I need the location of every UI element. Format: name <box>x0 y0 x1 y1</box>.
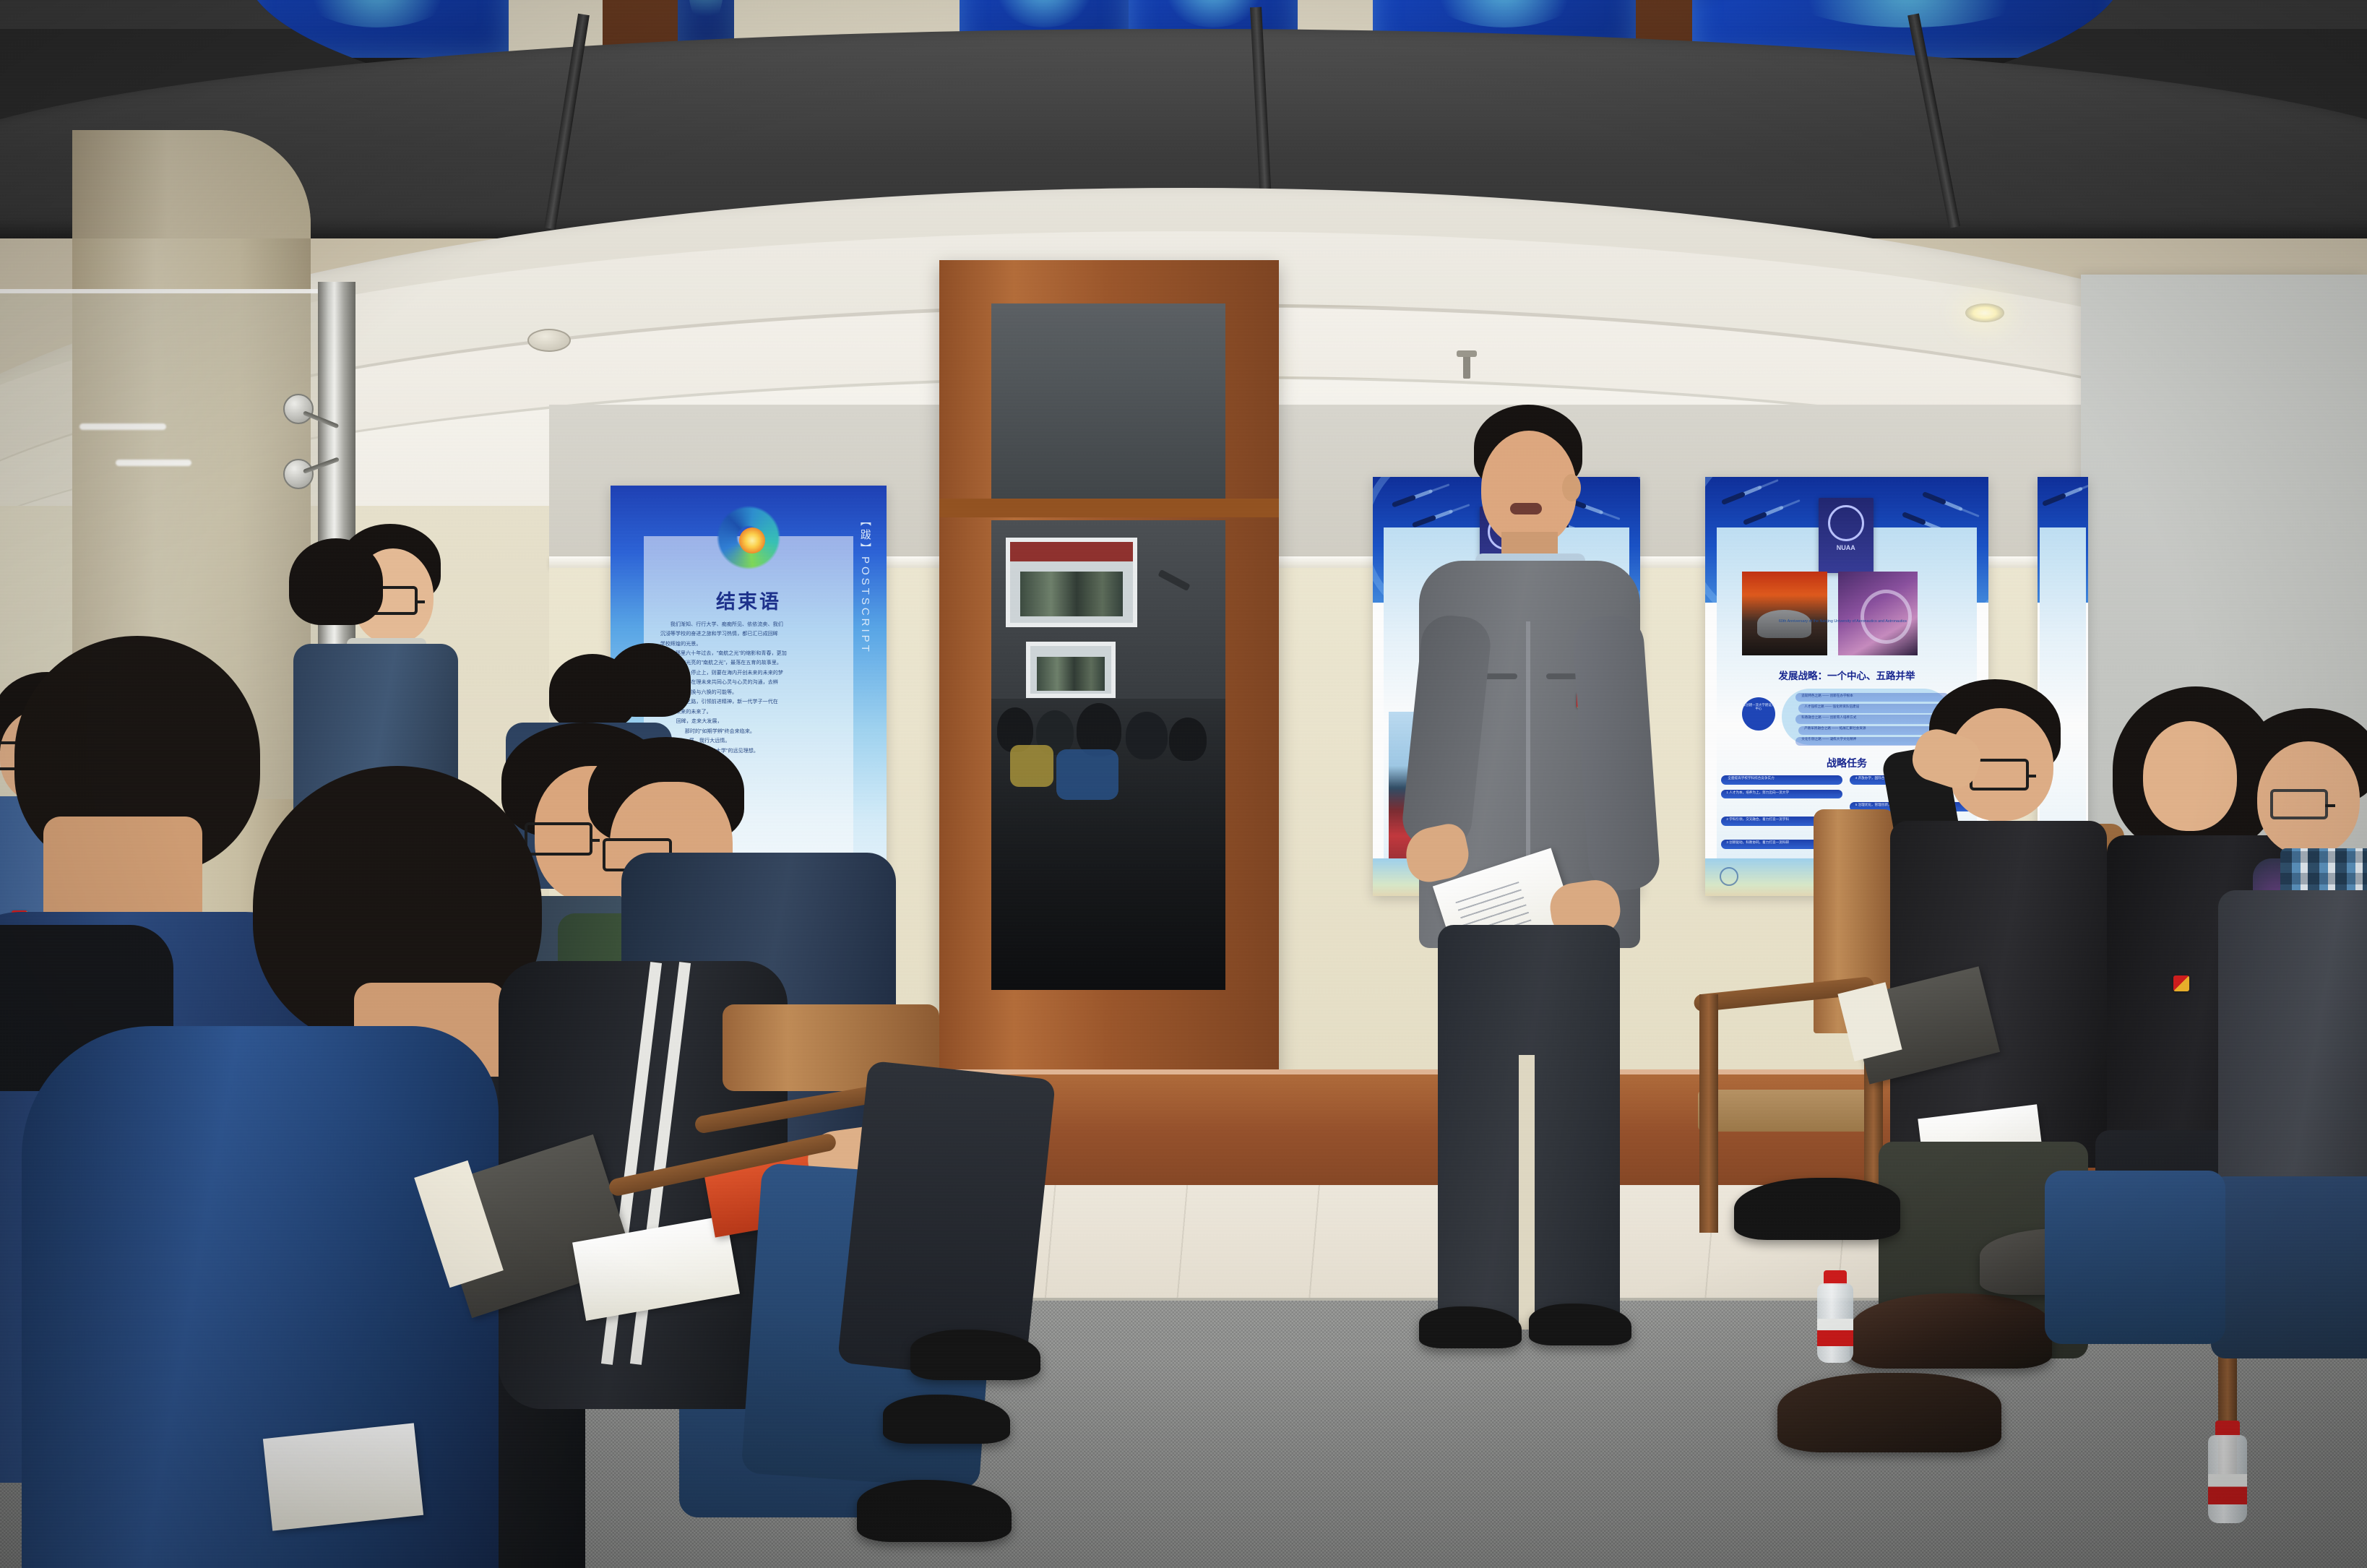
poster-side-label: 【跋】POSTSCRIPT <box>858 515 873 655</box>
task-banner-label: 全面提高学校学科综合竞争实力 <box>1728 776 1774 780</box>
nuaa-seal-icon <box>1828 505 1864 541</box>
chair-cushion <box>1698 1090 1883 1132</box>
bottle-label <box>1817 1319 1853 1346</box>
water-bottle[interactable] <box>2205 1421 2250 1523</box>
poster-title: 结束语 <box>611 586 887 614</box>
eyeglasses <box>2270 789 2328 819</box>
audience-clothing <box>1010 745 1053 787</box>
adjacent-room-audience <box>991 699 1225 990</box>
strategy-row-label: 造就特色之路 —— 创新在办学根本 <box>1801 694 1853 698</box>
chair-leg <box>1699 994 1718 1233</box>
audience-head <box>607 643 691 717</box>
logo-core-glow <box>739 527 765 553</box>
poster-line: 学校辉煌的光景。 <box>660 639 837 649</box>
audience-clothing <box>1056 749 1118 800</box>
man-in-plaid-shirt <box>2211 708 2367 1358</box>
audience-head <box>1126 712 1168 759</box>
strategy-row-label: 文化引领之路 —— 凝练大学文化精神 <box>1801 737 1856 741</box>
poster-footer-text: 60th Anniversary of the Nanjing Universi… <box>1779 619 1907 624</box>
framed-picture <box>1006 538 1137 627</box>
strategy-center-circle: 以创建一流大学建设为中心 <box>1742 697 1775 731</box>
nuaa-badge: NUAA <box>1819 498 1874 573</box>
audience-head <box>1077 703 1121 757</box>
audience-jeans <box>2045 1171 2225 1344</box>
doorway-transom-glass <box>991 303 1225 506</box>
badge-text: NUAA <box>1819 544 1874 551</box>
poster-line: 我们渐知、行行大学、痴痴所见、依依流卖、我们 <box>660 620 837 629</box>
audience-trousers <box>2211 1176 2367 1358</box>
doorway-glass <box>991 520 1225 990</box>
blue-display-panel <box>246 0 509 58</box>
glass-spider-fitting <box>283 459 314 489</box>
ceiling-downlight <box>1965 303 2004 322</box>
smoke-detector <box>527 329 571 352</box>
audience-head <box>289 538 383 625</box>
audience-shoe <box>1850 1293 2052 1369</box>
speaker-ear <box>1562 474 1581 501</box>
strategy-row-label: 人才强校之路 —— 强化师资队伍建设 <box>1804 705 1859 709</box>
poster-line: 在那里六十年过去，"南航之光"的缩影和青春，更加 <box>660 649 837 658</box>
poster-line: 沉浸等学校的奋进之旅和学习热情，都已汇已成回眸 <box>660 629 837 639</box>
water-bottle[interactable] <box>1815 1270 1855 1363</box>
glass-spider-fitting <box>283 394 314 424</box>
task-row-label: 1 人才为本，培养为上，努力迈向一流大学 <box>1726 791 1789 795</box>
fire-sprinkler-head <box>1463 354 1470 379</box>
trouser-gap <box>1519 1055 1535 1330</box>
printed-papers[interactable] <box>263 1423 423 1530</box>
audience-sweater <box>2218 890 2367 1194</box>
audience-shoe <box>1734 1178 1900 1240</box>
wall-sconce <box>1157 569 1190 591</box>
framed-picture <box>1026 642 1116 698</box>
photograph-scene: 结束语 我们渐知、行行大学、痴痴所见、依依流卖、我们 沉浸等学校的奋进之旅和学习… <box>0 0 2367 1568</box>
audience-jacket <box>22 1026 499 1568</box>
party-emblem-pin <box>2173 975 2189 991</box>
poster-photo-satellite <box>1838 572 1918 655</box>
speaker-mouth <box>1510 503 1542 514</box>
audience-head <box>1169 718 1207 761</box>
audience-shoe <box>1777 1373 2001 1452</box>
jet-formation-icon <box>2042 493 2066 507</box>
poster-photo-sunset <box>1742 572 1827 655</box>
bottle-label <box>2208 1474 2248 1505</box>
strategy-row-label: 产教军民融合之路 —— 拓展汇聚社会资源 <box>1804 726 1866 731</box>
strategy-row-label: 科教融合之路 —— 创新育人培养方式 <box>1801 715 1856 720</box>
doorway-mullion <box>939 499 1279 517</box>
standing-speaker <box>1394 405 1698 1358</box>
